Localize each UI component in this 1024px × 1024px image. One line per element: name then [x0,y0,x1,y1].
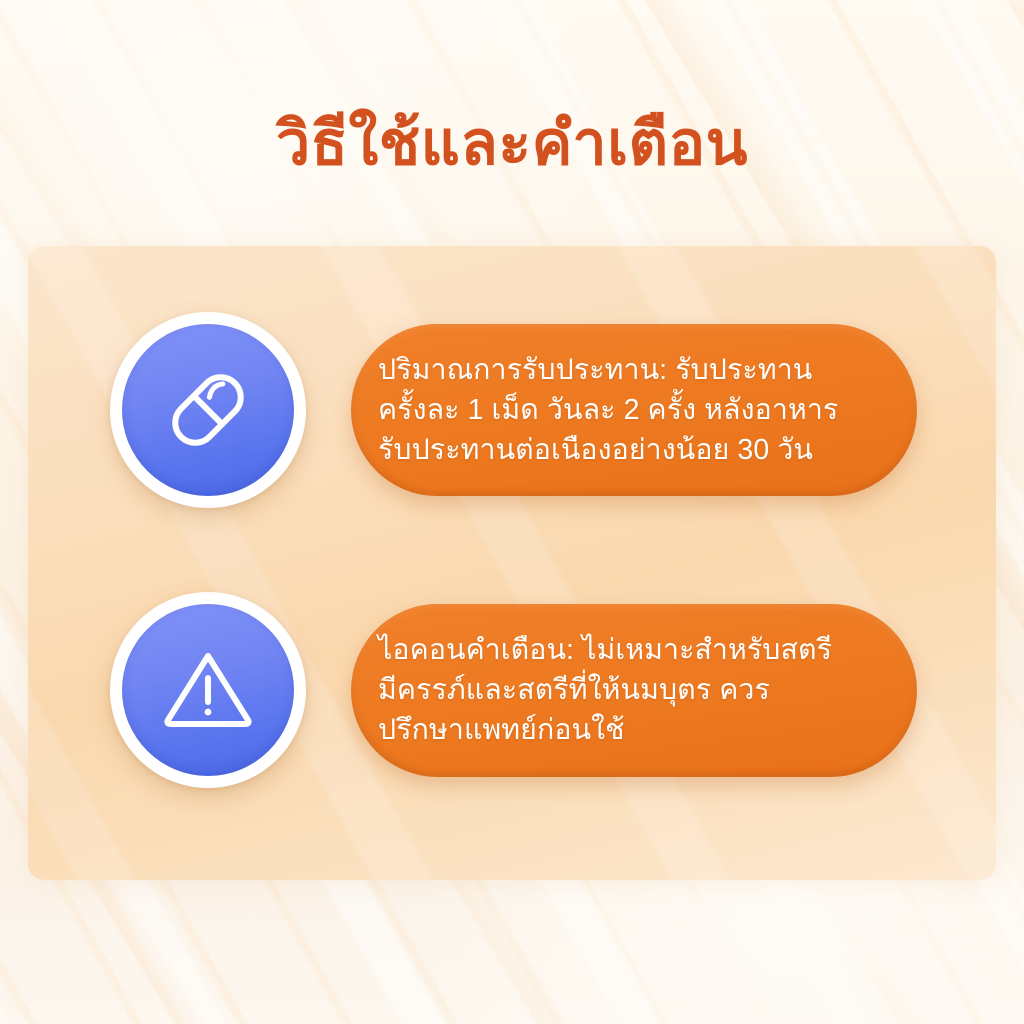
warning-triangle-icon [156,638,260,742]
poster-canvas: วิธีใช้และคำเตือน [0,0,1024,1024]
warning-message-pill: ไอคอนคำเตือน: ไม่เหมาะสำหรับสตรี มีครรภ์… [351,604,917,777]
page-title: วิธีใช้และคำเตือน [0,113,1024,174]
content-card: ปริมาณการรับประทาน: รับประทาน ครั้งละ 1 … [28,246,996,880]
dosage-message-pill: ปริมาณการรับประทาน: รับประทาน ครั้งละ 1 … [351,324,917,496]
dosage-line-1: ปริมาณการรับประทาน: รับประทาน [378,350,887,390]
warning-message-text: ไอคอนคำเตือน: ไม่เหมาะสำหรับสตรี มีครรภ์… [378,630,887,750]
warning-line-2: มีครรภ์และสตรีที่ให้นมบุตร ควร [378,670,887,710]
dosage-line-3: รับประทานต่อเนืองอย่างน้อย 30 วัน [378,430,887,470]
info-row-warning: ไอคอนคำเตือน: ไม่เหมาะสำหรับสตรี มีครรภ์… [110,592,917,788]
pill-capsule-icon [156,358,260,462]
dosage-icon-circle [122,324,294,496]
warning-line-3: ปรึกษาแพทย์ก่อนใช้ [378,710,887,750]
info-row-dosage: ปริมาณการรับประทาน: รับประทาน ครั้งละ 1 … [110,312,917,508]
dosage-line-2: ครั้งละ 1 เม็ด วันละ 2 ครั้ง หลังอาหาร [378,390,887,430]
warning-icon-badge [110,592,306,788]
warning-line-1: ไอคอนคำเตือน: ไม่เหมาะสำหรับสตรี [378,630,887,670]
warning-icon-circle [122,604,294,776]
dosage-message-text: ปริมาณการรับประทาน: รับประทาน ครั้งละ 1 … [378,350,887,470]
dosage-icon-badge [110,312,306,508]
